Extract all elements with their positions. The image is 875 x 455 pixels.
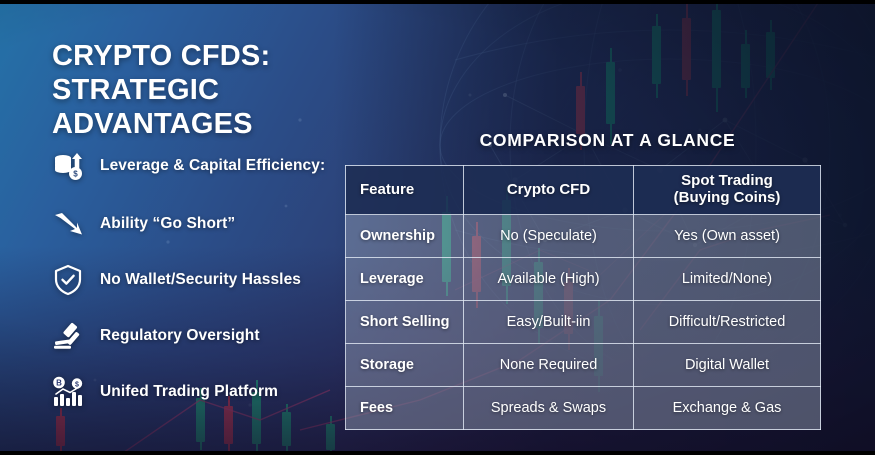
- list-item-label: Unifed Trading Platform: [100, 382, 278, 401]
- cell-feature: Storage: [346, 344, 464, 387]
- page-title-line-2: ADVANTAGES: [52, 108, 334, 142]
- arrow-down-right-icon: [48, 204, 88, 244]
- cell-feature: Short Selling: [346, 301, 464, 344]
- slide-canvas: CRYPTO CFDS: STRATEGIC ADVANTAGES: [0, 0, 875, 455]
- cell-spot-trading: Yes (Own asset): [634, 215, 821, 258]
- shield-check-icon: [48, 260, 88, 300]
- page-title-line-1: CRYPTO CFDS: STRATEGIC: [52, 40, 334, 108]
- list-item: B $ Unifed Trading Platform: [48, 372, 340, 412]
- column-header-spot-trading: Spot Trading (Buying Coins): [634, 166, 821, 215]
- table-row: Storage None Required Digital Wallet: [346, 344, 821, 387]
- right-panel: COMPARISON AT A GLANCE Feature Crypto CF…: [340, 0, 875, 455]
- cell-crypto-cfd: Spreads & Swaps: [464, 387, 634, 430]
- cell-spot-trading: Difficult/Restricted: [634, 301, 821, 344]
- list-item-label: Ability “Go Short”: [100, 214, 235, 233]
- column-header-feature: Feature: [346, 166, 464, 215]
- cell-spot-trading: Digital Wallet: [634, 344, 821, 387]
- cell-crypto-cfd: Easy/Built-iin: [464, 301, 634, 344]
- advantages-list: $ Leverage & Capital Efficiency: Ability…: [48, 146, 340, 428]
- column-header-crypto-cfd: Crypto CFD: [464, 166, 634, 215]
- list-item: Regulatory Oversight: [48, 316, 340, 356]
- list-item-label: No Wallet/Security Hassles: [100, 270, 301, 289]
- comparison-heading: COMPARISON AT A GLANCE: [340, 130, 875, 151]
- svg-text:B: B: [56, 379, 62, 388]
- crypto-bar-chart-icon: B $: [48, 372, 88, 412]
- svg-text:$: $: [73, 170, 78, 179]
- list-item: $ Leverage & Capital Efficiency:: [48, 146, 340, 186]
- cell-spot-trading: Limited/None): [634, 258, 821, 301]
- column-header-spot-trading-line-1: Spot Trading: [681, 172, 773, 189]
- cell-crypto-cfd: None Required: [464, 344, 634, 387]
- table-row: Leverage Available (High) Limited/None): [346, 258, 821, 301]
- letterbox-top: [0, 0, 875, 4]
- letterbox-bottom: [0, 451, 875, 455]
- list-item-label: Leverage & Capital Efficiency:: [100, 156, 325, 175]
- table-header-row: Feature Crypto CFD Spot Trading (Buying …: [346, 166, 821, 215]
- coins-up-arrow-icon: $: [48, 146, 88, 186]
- cell-feature: Ownership: [346, 215, 464, 258]
- column-header-spot-trading-line-2: (Buying Coins): [674, 189, 781, 206]
- cell-feature: Fees: [346, 387, 464, 430]
- left-panel: CRYPTO CFDS: STRATEGIC ADVANTAGES: [0, 0, 340, 455]
- gavel-icon: [48, 316, 88, 356]
- cell-feature: Leverage: [346, 258, 464, 301]
- list-item-label: Regulatory Oversight: [100, 326, 260, 345]
- page-title: CRYPTO CFDS: STRATEGIC ADVANTAGES: [52, 40, 334, 142]
- table-row: Fees Spreads & Swaps Exchange & Gas: [346, 387, 821, 430]
- table-row: Short Selling Easy/Built-iin Difficult/R…: [346, 301, 821, 344]
- comparison-table: Feature Crypto CFD Spot Trading (Buying …: [345, 165, 821, 430]
- list-item: Ability “Go Short”: [48, 204, 340, 244]
- cell-crypto-cfd: No (Speculate): [464, 215, 634, 258]
- cell-spot-trading: Exchange & Gas: [634, 387, 821, 430]
- list-item: No Wallet/Security Hassles: [48, 260, 340, 300]
- table-row: Ownership No (Speculate) Yes (Own asset): [346, 215, 821, 258]
- cell-crypto-cfd: Available (High): [464, 258, 634, 301]
